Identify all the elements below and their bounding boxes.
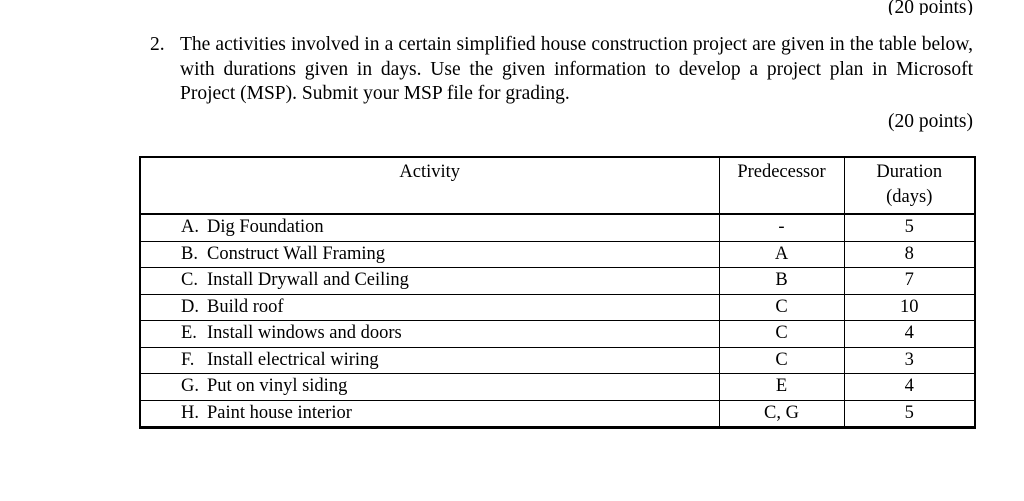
cell-predecessor: C — [719, 347, 844, 374]
activity-letter: A. — [181, 215, 207, 241]
cell-predecessor: E — [719, 374, 844, 401]
cell-activity: G.Put on vinyl siding — [140, 374, 719, 401]
cell-duration: 5 — [844, 214, 975, 241]
activity-name: Install Drywall and Ceiling — [207, 270, 409, 290]
activity-name: Paint house interior — [207, 403, 352, 423]
question-block: 2. The activities involved in a certain … — [150, 33, 973, 107]
cell-duration: 7 — [844, 268, 975, 295]
table-header: Activity Predecessor Duration (days) — [140, 157, 975, 214]
activity-name: Install electrical wiring — [207, 350, 379, 370]
cell-predecessor: C — [719, 321, 844, 348]
table-row: A.Dig Foundation - 5 — [140, 214, 975, 241]
activity-table: Activity Predecessor Duration (days) A.D… — [139, 156, 976, 429]
activity-name: Build roof — [207, 297, 284, 317]
activity-name: Install windows and doors — [207, 323, 402, 343]
activity-letter: D. — [181, 295, 207, 321]
activity-letter: B. — [181, 242, 207, 268]
cell-activity: D.Build roof — [140, 294, 719, 321]
question-text: The activities involved in a certain sim… — [180, 33, 973, 107]
table-row: C.Install Drywall and Ceiling B 7 — [140, 268, 975, 295]
cell-duration: 10 — [844, 294, 975, 321]
cell-activity: F.Install electrical wiring — [140, 347, 719, 374]
table-row: E.Install windows and doors C 4 — [140, 321, 975, 348]
activity-name: Put on vinyl siding — [207, 376, 347, 396]
cell-activity: B.Construct Wall Framing — [140, 241, 719, 268]
points-note: (20 points) — [0, 110, 973, 134]
cell-activity: A.Dig Foundation — [140, 214, 719, 241]
cell-duration: 4 — [844, 374, 975, 401]
cell-duration: 8 — [844, 241, 975, 268]
table-row: F.Install electrical wiring C 3 — [140, 347, 975, 374]
activity-letter: F. — [181, 348, 207, 374]
activity-name: Construct Wall Framing — [207, 244, 385, 264]
column-header-activity-label: Activity — [141, 160, 719, 185]
table-row: H.Paint house interior C, G 5 — [140, 400, 975, 428]
activity-name: Dig Foundation — [207, 217, 324, 237]
question-number: 2. — [150, 33, 180, 58]
cell-predecessor: C — [719, 294, 844, 321]
activity-letter: H. — [181, 401, 207, 427]
column-header-predecessor-label: Predecessor — [720, 160, 844, 185]
cell-duration: 4 — [844, 321, 975, 348]
cell-activity: E.Install windows and doors — [140, 321, 719, 348]
table-row: G.Put on vinyl siding E 4 — [140, 374, 975, 401]
table-body: A.Dig Foundation - 5 B.Construct Wall Fr… — [140, 214, 975, 428]
column-header-duration-unit: (days) — [845, 185, 975, 210]
cell-duration: 5 — [844, 400, 975, 428]
table-header-row: Activity Predecessor Duration (days) — [140, 157, 975, 214]
cell-predecessor: - — [719, 214, 844, 241]
activity-letter: C. — [181, 268, 207, 294]
column-header-predecessor: Predecessor — [719, 157, 844, 214]
column-header-duration: Duration (days) — [844, 157, 975, 214]
column-header-duration-label: Duration — [845, 160, 975, 185]
cell-predecessor: A — [719, 241, 844, 268]
clipped-points-text: (20 points) — [888, 0, 973, 15]
cell-predecessor: C, G — [719, 400, 844, 428]
table-row: D.Build roof C 10 — [140, 294, 975, 321]
column-header-activity: Activity — [140, 157, 719, 214]
cell-predecessor: B — [719, 268, 844, 295]
table-row: B.Construct Wall Framing A 8 — [140, 241, 975, 268]
clipped-points-note: (20 points) — [0, 0, 973, 15]
cell-duration: 3 — [844, 347, 975, 374]
cell-activity: H.Paint house interior — [140, 400, 719, 428]
activity-letter: G. — [181, 374, 207, 400]
cell-activity: C.Install Drywall and Ceiling — [140, 268, 719, 295]
activity-letter: E. — [181, 321, 207, 347]
